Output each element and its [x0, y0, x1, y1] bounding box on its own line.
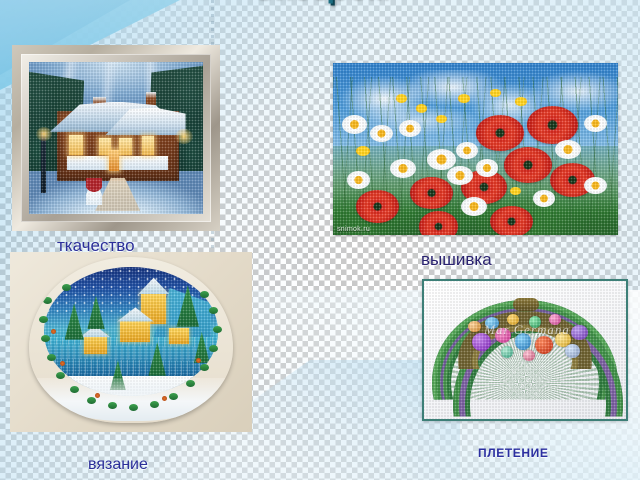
- buttercup-flower: [416, 104, 427, 113]
- daisy-flower: [584, 115, 607, 132]
- label-embroidery: вышивка: [421, 250, 492, 270]
- buttercup-flower: [515, 97, 526, 106]
- daisy-flower: [390, 159, 416, 178]
- gem-pearl: [565, 344, 579, 358]
- poppy-flower: [476, 115, 524, 151]
- daisy-flower: [399, 120, 422, 137]
- buttercup-flower: [436, 115, 447, 124]
- artwork-door: [109, 150, 119, 171]
- daisy-flower: [584, 177, 607, 194]
- label-braiding: ПЛЕТЕНИЕ: [478, 446, 548, 460]
- artwork-lamp-glow-right: [175, 129, 192, 144]
- daisy-flower: [342, 115, 368, 134]
- village-snow-rim: [35, 378, 226, 421]
- village-oval-canvas: [29, 257, 232, 423]
- gem-aqua: [485, 317, 499, 329]
- artwork-window-4: [142, 136, 154, 154]
- gem-purple: [472, 333, 490, 351]
- artwork-lamp-glow-left: [36, 127, 52, 141]
- image-beaded-necklace: Mar Germana: [422, 279, 628, 421]
- buttercup-flower: [356, 146, 370, 156]
- village-scene: [44, 267, 219, 396]
- gem-coral: [523, 350, 535, 361]
- village-house-2: [84, 334, 107, 353]
- gem-violet: [571, 325, 587, 340]
- gem-green: [529, 316, 541, 328]
- poppy-flower: [527, 106, 578, 144]
- gem-topaz: [468, 321, 480, 332]
- village-house-1: [120, 319, 150, 342]
- gem-pink: [495, 328, 511, 343]
- slide-canvas: бисером: [0, 0, 640, 480]
- daisy-flower: [476, 159, 499, 176]
- artwork-snowman: [86, 178, 102, 205]
- poppy-flower: [356, 190, 399, 223]
- gem-jade: [501, 346, 513, 358]
- page-title: бисером: [0, 0, 640, 4]
- daisy-flower: [347, 171, 370, 188]
- artwork-window-3: [119, 138, 131, 155]
- daisy-flower: [461, 197, 487, 216]
- artwork-lamppost: [41, 132, 46, 193]
- label-knitting: вязание: [88, 456, 148, 474]
- picture-frame-inner: [29, 62, 203, 214]
- daisy-flower: [427, 149, 456, 170]
- daisy-flower: [447, 166, 473, 185]
- beaded-winter-house-artwork: [29, 62, 203, 214]
- image-framed-winter-house: [12, 45, 220, 231]
- necklace-clasp: [513, 298, 539, 312]
- village-house-3: [169, 328, 188, 343]
- gem-amber: [507, 314, 519, 325]
- label-weaving: ткачество: [57, 236, 135, 256]
- image-watermark: snimok.ru: [337, 226, 370, 233]
- image-beaded-poppies: snimok.ru: [333, 63, 618, 235]
- buttercup-flower: [458, 94, 469, 103]
- buttercup-flower: [396, 94, 407, 103]
- gem-blue: [515, 333, 531, 350]
- daisy-flower: [370, 125, 393, 142]
- image-beaded-village: [10, 252, 252, 432]
- artwork-window-1: [69, 135, 83, 155]
- poppy-flower: [490, 206, 533, 235]
- poppy-flower: [410, 177, 453, 210]
